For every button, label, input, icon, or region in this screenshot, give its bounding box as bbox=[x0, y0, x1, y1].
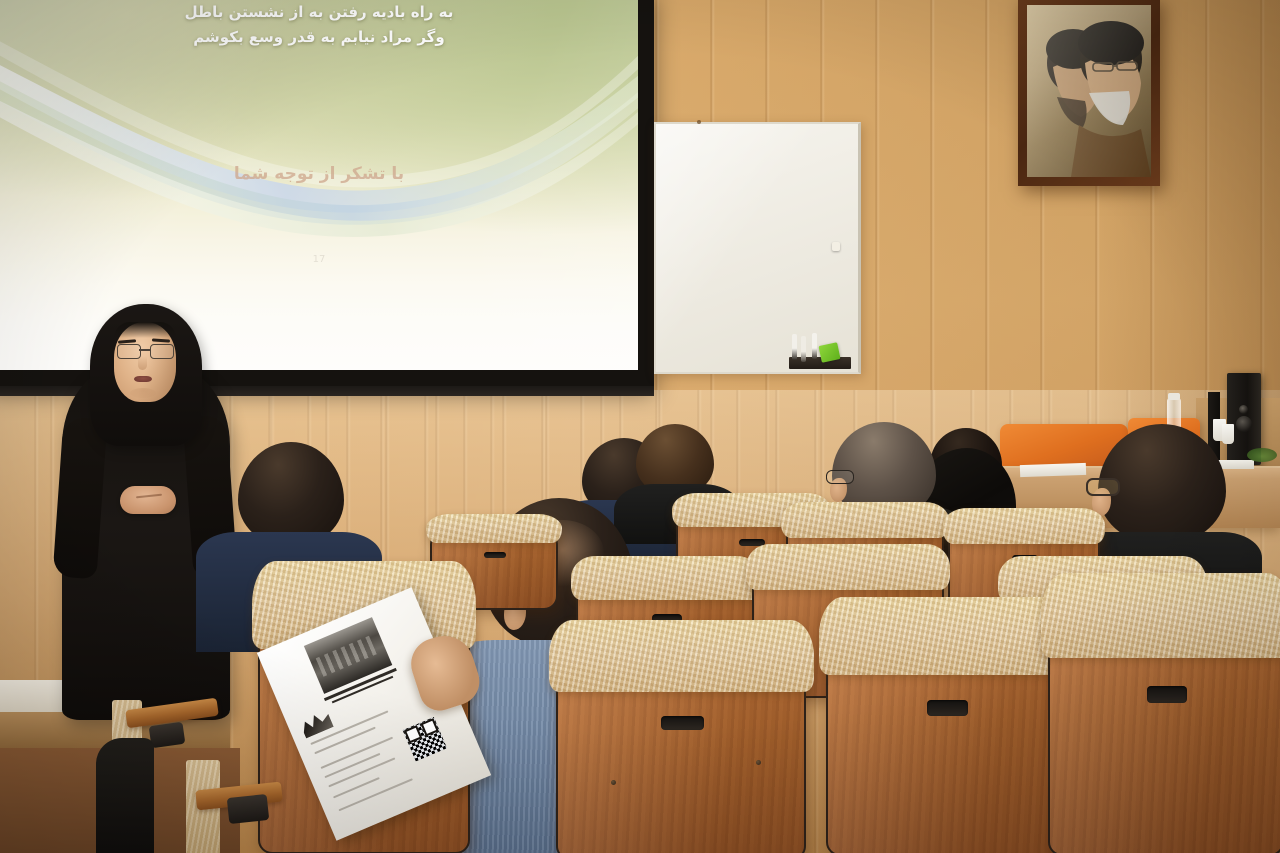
whiteboard-tray bbox=[789, 357, 851, 369]
qr-code-icon bbox=[403, 717, 448, 762]
eyeglasses-icon bbox=[1086, 478, 1120, 496]
slide-verse-line-1: به راه بادیه رفتن به از نشستن باطل bbox=[0, 0, 638, 25]
brochure-logo-icon bbox=[298, 708, 333, 738]
chair-headrest-cushion bbox=[571, 556, 762, 600]
auditorium-chair[interactable] bbox=[556, 660, 806, 853]
speaker-woofer-icon bbox=[1236, 416, 1252, 432]
chair-handle-slot bbox=[927, 700, 968, 715]
whiteboard-sheen bbox=[656, 124, 858, 372]
table-papers bbox=[1020, 463, 1086, 477]
chair-handle-slot bbox=[484, 552, 506, 558]
chair-handle-slot bbox=[661, 716, 704, 730]
table-plant bbox=[1247, 448, 1277, 462]
chair-handle-slot bbox=[1147, 686, 1187, 703]
water-bottle-cap bbox=[1168, 393, 1180, 400]
framed-portrait bbox=[1018, 0, 1160, 186]
presenter-chin bbox=[130, 388, 156, 398]
portrait-image bbox=[1027, 5, 1151, 177]
chair-stud bbox=[611, 780, 616, 785]
chair-armrest-pad bbox=[227, 794, 269, 824]
chair-armrest-pad bbox=[149, 722, 186, 749]
chair-headrest-cushion bbox=[943, 508, 1104, 543]
chair-headrest-cushion bbox=[746, 544, 950, 590]
whiteboard-marker-icon bbox=[812, 333, 817, 359]
eyeglasses-icon bbox=[826, 470, 854, 484]
portrait-glass-reflection bbox=[1027, 5, 1151, 177]
chair-headrest-cushion bbox=[781, 502, 948, 538]
chair-headrest-cushion bbox=[1041, 573, 1280, 658]
presenter-nose bbox=[138, 356, 147, 370]
slide-page-number: 17 bbox=[0, 254, 638, 265]
slide-verse: به راه بادیه رفتن به از نشستن باطل وگر م… bbox=[0, 0, 638, 50]
auditorium-chair[interactable] bbox=[826, 640, 1066, 853]
chair-headrest-cushion bbox=[549, 620, 814, 692]
auditorium-chair[interactable] bbox=[1048, 620, 1280, 853]
slide-closing-text: با تشکر از توجه شما bbox=[0, 164, 638, 184]
presenter-clasped-hands bbox=[120, 486, 176, 514]
whiteboard-marker-icon bbox=[801, 336, 806, 362]
whiteboard-marker-icon bbox=[792, 334, 797, 360]
slide-verse-line-2: وگر مراد نیابم به قدر وسع بکوشم bbox=[0, 25, 638, 50]
whiteboard-mount-nail bbox=[697, 120, 701, 124]
chair-headrest-cushion bbox=[426, 514, 562, 543]
paper-cup bbox=[1222, 424, 1234, 444]
brochure-text-line bbox=[338, 778, 412, 811]
seminar-hall-photo: به راه بادیه رفتن به از نشستن باطل وگر م… bbox=[0, 0, 1280, 853]
attendee-seated-dark bbox=[96, 738, 154, 853]
chair-headrest-cushion bbox=[819, 597, 1073, 675]
whiteboard bbox=[654, 122, 861, 374]
presenter bbox=[56, 300, 241, 720]
presenter-mouth bbox=[134, 376, 152, 382]
speaker-tweeter-icon bbox=[1239, 405, 1248, 414]
whiteboard-clip bbox=[832, 242, 840, 251]
chair-stud bbox=[756, 760, 761, 765]
